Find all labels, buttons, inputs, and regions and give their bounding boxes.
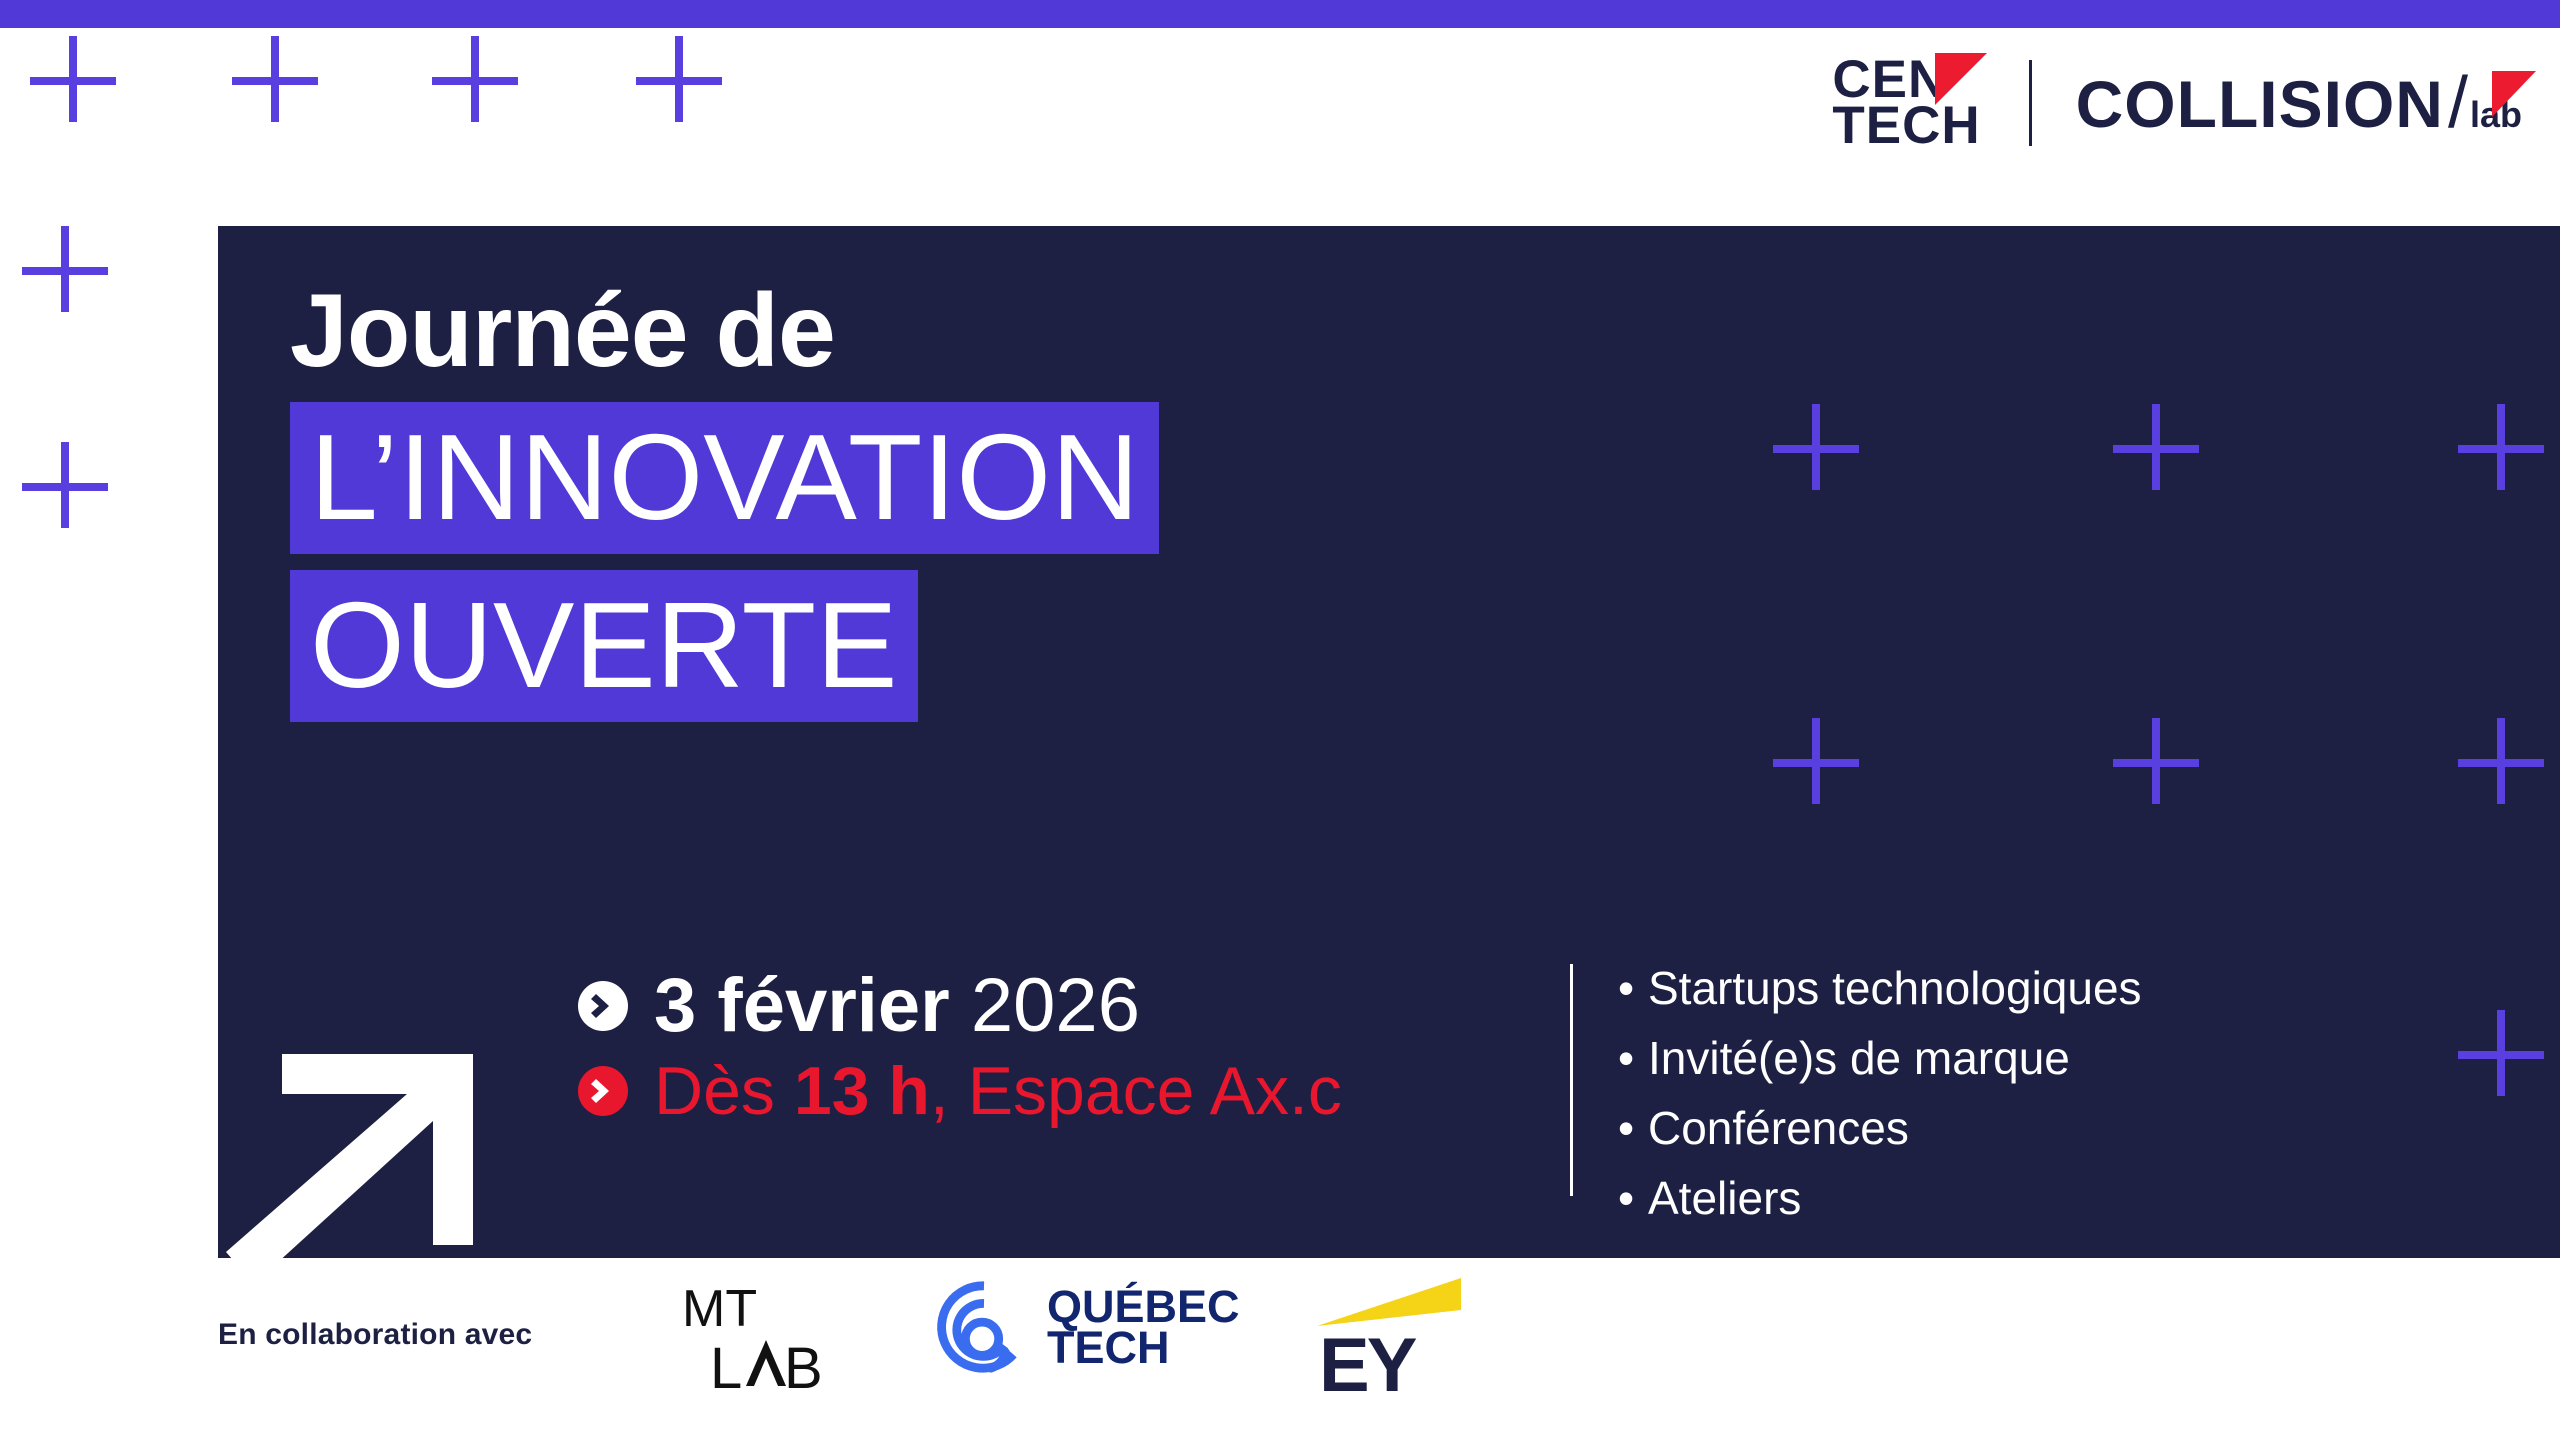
collision-red-triangle-icon xyxy=(2492,71,2536,117)
plus-cross-icon xyxy=(1773,404,1859,490)
header-logos: CEN TECH COLLISION / lab xyxy=(1832,48,2522,158)
headline-line-1: Journée de xyxy=(290,276,1159,386)
plus-cross-icon xyxy=(30,36,116,122)
top-accent-strip xyxy=(0,0,2560,28)
logo-divider xyxy=(2029,60,2032,146)
event-time-prefix: Dès xyxy=(654,1053,794,1129)
main-dark-panel: Journée de L’INNOVATION OUVERTE 3 fév xyxy=(218,226,2560,1258)
plus-cross-icon xyxy=(22,442,108,528)
plus-cross-icon xyxy=(2113,404,2199,490)
plus-cross-icon xyxy=(232,36,318,122)
highlight-item: Conférences xyxy=(1618,1094,2142,1164)
plus-cross-icon xyxy=(22,226,108,312)
event-date-year: 2026 xyxy=(971,963,1140,1048)
quebectech-line1: QUÉBEC xyxy=(1047,1286,1240,1327)
event-date-daymonth: 3 février xyxy=(654,963,950,1048)
collaboration-label: En collaboration avec xyxy=(218,1318,532,1352)
event-time-hour: 13 h xyxy=(794,1053,930,1129)
headline-block: Journée de L’INNOVATION OUVERTE xyxy=(290,276,1159,722)
plus-cross-icon xyxy=(2113,718,2199,804)
svg-text:L: L xyxy=(710,1336,742,1400)
collision-wordmark: COLLISION xyxy=(2076,71,2444,137)
centech-logo: CEN TECH xyxy=(1832,57,1984,148)
svg-text:B: B xyxy=(784,1336,823,1400)
diagonal-arrow-up-right-icon xyxy=(218,954,548,1258)
event-datetime-block: 3 février 2026 Dès 13 h, Espace Ax.c xyxy=(578,966,1342,1137)
plus-cross-icon xyxy=(2458,1010,2544,1096)
partner-logo-quebectech: QUÉBEC TECH xyxy=(935,1278,1240,1376)
partner-logo-mtlab: MT L B xyxy=(680,1280,860,1400)
footer-partners: En collaboration avec MT L B QUÉBEC TECH xyxy=(0,1258,2560,1440)
quebectech-line2: TECH xyxy=(1047,1327,1240,1368)
event-date-text: 3 février 2026 xyxy=(654,966,1140,1046)
content-divider xyxy=(1570,964,1573,1196)
collision-slash: / xyxy=(2448,69,2468,137)
highlight-item: Startups technologiques xyxy=(1618,954,2142,1024)
chevron-right-circle-red-icon xyxy=(578,1066,628,1116)
ey-wordmark: EY xyxy=(1319,1328,1414,1404)
plus-cross-icon xyxy=(636,36,722,122)
plus-cross-icon xyxy=(2458,718,2544,804)
chevron-right-circle-white-icon xyxy=(578,981,628,1031)
quebectech-swirl-icon xyxy=(935,1278,1033,1376)
collision-lab-logo: COLLISION / lab xyxy=(2076,69,2522,137)
headline-line-2: L’INNOVATION xyxy=(290,402,1159,554)
highlight-item: Invité(e)s de marque xyxy=(1618,1024,2142,1094)
event-time-suffix: , Espace Ax.c xyxy=(930,1053,1342,1129)
event-date-row: 3 février 2026 xyxy=(578,966,1342,1046)
centech-line2: TECH xyxy=(1832,103,1980,149)
highlight-item: Ateliers xyxy=(1618,1164,2142,1234)
event-time-text: Dès 13 h, Espace Ax.c xyxy=(654,1056,1342,1127)
plus-cross-icon xyxy=(1773,718,1859,804)
highlights-list: Startups technologiquesInvité(e)s de mar… xyxy=(1618,954,2142,1234)
plus-cross-icon xyxy=(2458,404,2544,490)
headline-line-2-wrap: L’INNOVATION xyxy=(290,402,1159,554)
centech-red-triangle-icon xyxy=(1935,53,1987,105)
partner-logo-ey: EY xyxy=(1315,1274,1475,1404)
svg-text:MT: MT xyxy=(682,1280,757,1338)
event-time-row: Dès 13 h, Espace Ax.c xyxy=(578,1056,1342,1127)
headline-line-3-wrap: OUVERTE xyxy=(290,570,1159,722)
headline-line-3: OUVERTE xyxy=(290,570,918,722)
promo-banner: CEN TECH COLLISION / lab Journée de L’IN… xyxy=(0,0,2560,1440)
plus-cross-icon xyxy=(432,36,518,122)
quebectech-wordmark: QUÉBEC TECH xyxy=(1047,1286,1240,1369)
